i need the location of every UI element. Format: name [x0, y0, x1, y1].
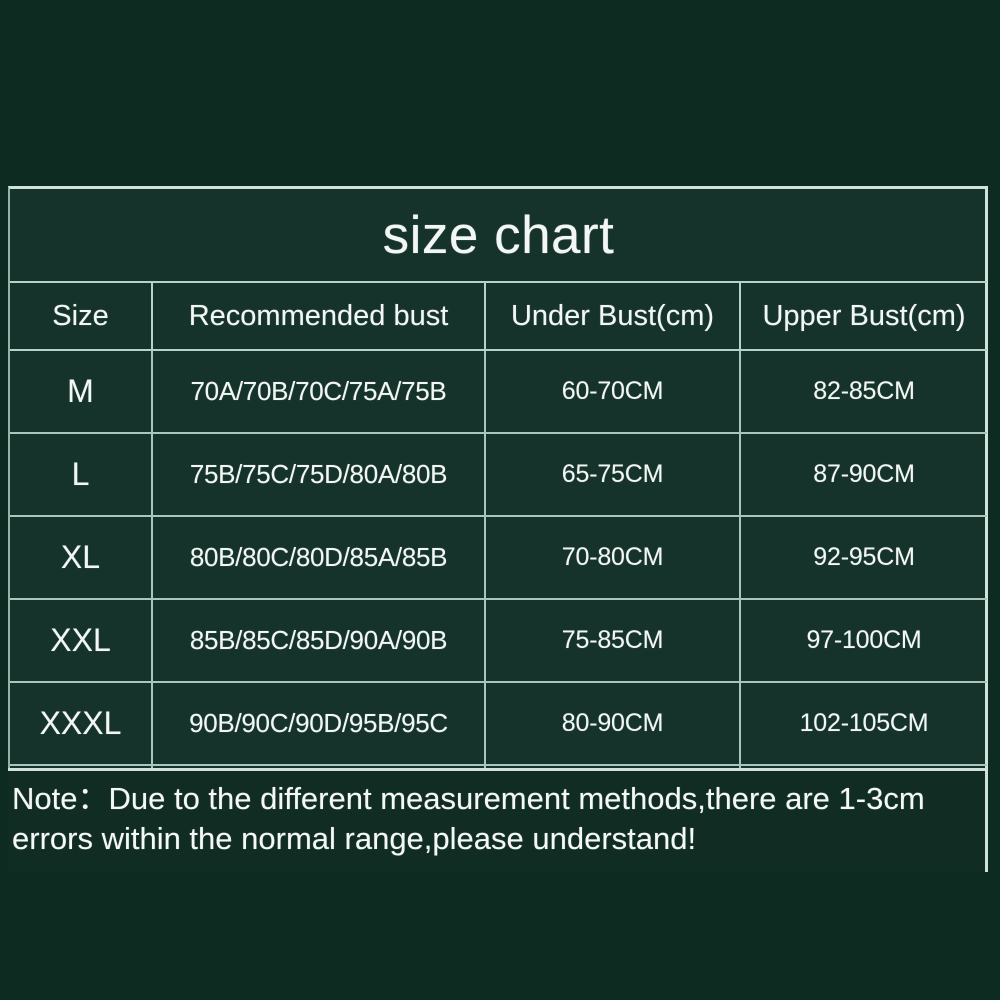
table-row: XXL 85B/85C/85D/90A/90B 75-85CM 97-100CM — [10, 599, 987, 682]
cell-size: XXL — [10, 599, 152, 682]
table-row: XXXL 90B/90C/90D/95B/95C 80-90CM 102-105… — [10, 682, 987, 765]
cell-under-bust: 60-70CM — [485, 350, 740, 433]
size-chart-page: size chart Size Recommended bust Under B… — [0, 0, 1000, 1000]
cell-recommended-bust: 75B/75C/75D/80A/80B — [152, 433, 485, 516]
cell-size: L — [10, 433, 152, 516]
chart-title-cell: size chart — [10, 189, 987, 282]
size-chart-table-container: size chart Size Recommended bust Under B… — [8, 186, 988, 792]
cell-under-bust: 70-80CM — [485, 516, 740, 599]
cell-size: XXXL — [10, 682, 152, 765]
cell-upper-bust: 82-85CM — [740, 350, 987, 433]
note-text: Note：Due to the different measurement me… — [12, 779, 975, 858]
cell-size: XL — [10, 516, 152, 599]
cell-recommended-bust: 85B/85C/85D/90A/90B — [152, 599, 485, 682]
cell-under-bust: 80-90CM — [485, 682, 740, 765]
column-header-under-bust: Under Bust(cm) — [485, 282, 740, 350]
cell-upper-bust: 97-100CM — [740, 599, 987, 682]
cell-under-bust: 65-75CM — [485, 433, 740, 516]
cell-recommended-bust: 90B/90C/90D/95B/95C — [152, 682, 485, 765]
page-title: size chart — [383, 206, 615, 265]
cell-recommended-bust: 80B/80C/80D/85A/85B — [152, 516, 485, 599]
table-row: XL 80B/80C/80D/85A/85B 70-80CM 92-95CM — [10, 516, 987, 599]
note-section: Note：Due to the different measurement me… — [8, 768, 988, 872]
cell-recommended-bust: 70A/70B/70C/75A/75B — [152, 350, 485, 433]
column-header-size: Size — [10, 282, 152, 350]
cell-size: M — [10, 350, 152, 433]
table-header-row: Size Recommended bust Under Bust(cm) Upp… — [10, 282, 987, 350]
cell-upper-bust: 92-95CM — [740, 516, 987, 599]
cell-upper-bust: 87-90CM — [740, 433, 987, 516]
table-row: M 70A/70B/70C/75A/75B 60-70CM 82-85CM — [10, 350, 987, 433]
cell-under-bust: 75-85CM — [485, 599, 740, 682]
chart-title-row: size chart — [10, 189, 987, 282]
cell-upper-bust: 102-105CM — [740, 682, 987, 765]
column-header-upper-bust: Upper Bust(cm) — [740, 282, 987, 350]
size-chart-table: size chart Size Recommended bust Under B… — [10, 189, 987, 792]
table-row: L 75B/75C/75D/80A/80B 65-75CM 87-90CM — [10, 433, 987, 516]
column-header-recommended-bust: Recommended bust — [152, 282, 485, 350]
